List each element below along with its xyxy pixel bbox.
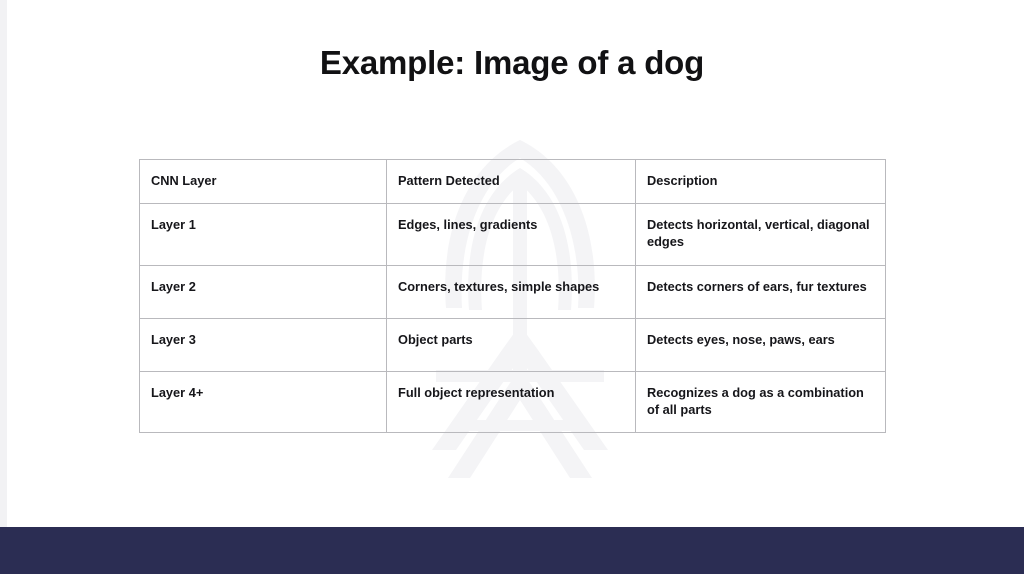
cell-layer: Layer 4+ [140, 371, 387, 432]
cell-pattern: Full object representation [387, 371, 636, 432]
cell-description: Detects corners of ears, fur textures [636, 265, 886, 318]
page-title: Example: Image of a dog [0, 44, 1024, 82]
cell-description: Detects horizontal, vertical, diagonal e… [636, 203, 886, 265]
cell-layer: Layer 1 [140, 203, 387, 265]
cell-description: Detects eyes, nose, paws, ears [636, 318, 886, 371]
table-header-row: CNN Layer Pattern Detected Description [140, 160, 886, 204]
column-header-cnn-layer: CNN Layer [140, 160, 387, 204]
cell-pattern: Edges, lines, gradients [387, 203, 636, 265]
cell-layer: Layer 2 [140, 265, 387, 318]
cnn-layer-table: CNN Layer Pattern Detected Description L… [139, 159, 886, 433]
table-row: Layer 3 Object parts Detects eyes, nose,… [140, 318, 886, 371]
table-row: Layer 4+ Full object representation Reco… [140, 371, 886, 432]
cnn-layer-table-wrapper: CNN Layer Pattern Detected Description L… [139, 159, 885, 433]
column-header-pattern: Pattern Detected [387, 160, 636, 204]
table-row: Layer 2 Corners, textures, simple shapes… [140, 265, 886, 318]
column-header-description: Description [636, 160, 886, 204]
footer-bar [0, 527, 1024, 574]
cell-pattern: Corners, textures, simple shapes [387, 265, 636, 318]
cell-layer: Layer 3 [140, 318, 387, 371]
table-row: Layer 1 Edges, lines, gradients Detects … [140, 203, 886, 265]
slide-canvas: Example: Image of a dog CNN Layer Patter… [0, 0, 1024, 574]
cell-pattern: Object parts [387, 318, 636, 371]
cell-description: Recognizes a dog as a combination of all… [636, 371, 886, 432]
